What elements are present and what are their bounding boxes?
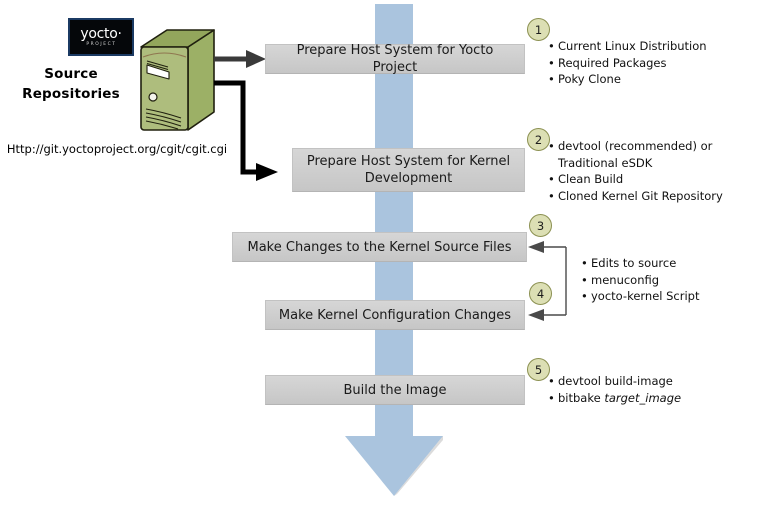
list-item: Poky Clone — [558, 71, 760, 88]
step-box-prepare-host-kernel[interactable]: Prepare Host System for Kernel Developme… — [292, 148, 525, 192]
list-item: menuconfig — [591, 272, 758, 289]
step-box-2-label: Prepare Host System for Kernel Developme… — [293, 153, 524, 187]
source-repositories-url: Http://git.yoctoproject.org/cgit/cgit.cg… — [4, 142, 230, 156]
source-label-line-1: Source — [8, 64, 134, 84]
step-notes-34-list: Edits to source menuconfig yocto-kernel … — [578, 255, 758, 305]
list-item: Required Packages — [558, 55, 760, 72]
step-notes-5-list: devtool build-image bitbake target_image — [545, 373, 755, 406]
step-box-make-kernel-source-changes[interactable]: Make Changes to the Kernel Source Files — [232, 232, 527, 262]
step-box-prepare-host-yocto[interactable]: Prepare Host System for Yocto Project — [265, 44, 525, 74]
step-box-build-the-image[interactable]: Build the Image — [265, 375, 525, 405]
step-box-4-label: Make Kernel Configuration Changes — [271, 307, 519, 324]
connector-notes-to-step3-step4 — [528, 241, 566, 321]
yocto-logo-wordmark: yocto· — [80, 27, 121, 41]
yocto-logo-subtext: PROJECT — [86, 43, 116, 47]
connector-server-to-step2 — [214, 83, 278, 181]
list-item: Current Linux Distribution — [558, 38, 760, 55]
step-notes-3-and-4: Edits to source menuconfig yocto-kernel … — [578, 255, 758, 305]
server-tower-icon — [141, 30, 214, 130]
list-item: bitbake target_image — [558, 390, 755, 407]
source-label-line-2: Repositories — [8, 84, 134, 104]
yocto-project-logo: yocto· PROJECT — [68, 18, 134, 56]
bitbake-command: bitbake — [558, 391, 604, 405]
step-notes-1-list: Current Linux Distribution Required Pack… — [545, 38, 760, 88]
source-repositories-label: Source Repositories — [8, 64, 134, 104]
step-box-make-kernel-config-changes[interactable]: Make Kernel Configuration Changes — [265, 300, 525, 330]
step-box-3-label: Make Changes to the Kernel Source Files — [240, 239, 520, 256]
connector-server-to-step1 — [214, 50, 266, 68]
list-item: devtool build-image — [558, 373, 755, 390]
diagram-canvas: yocto· PROJECT Source Repositories Http:… — [0, 0, 769, 517]
step-number-badge-4: 4 — [529, 282, 552, 305]
step-notes-1: Current Linux Distribution Required Pack… — [545, 38, 760, 88]
list-item: yocto-kernel Script — [591, 288, 758, 305]
list-item: Edits to source — [591, 255, 758, 272]
yocto-logo-text: yocto — [80, 26, 117, 42]
yocto-logo-dot: · — [117, 26, 121, 42]
step-notes-2-list: devtool (recommended) or Traditional eSD… — [545, 138, 757, 204]
step-notes-5: devtool build-image bitbake target_image — [545, 373, 755, 406]
step-notes-2: devtool (recommended) or Traditional eSD… — [545, 138, 757, 204]
list-item: Clean Build — [558, 171, 757, 188]
list-item: devtool (recommended) or Traditional eSD… — [558, 138, 757, 171]
list-item: Cloned Kernel Git Repository — [558, 188, 757, 205]
bitbake-target-arg: target_image — [604, 391, 681, 405]
step-box-1-label: Prepare Host System for Yocto Project — [266, 42, 524, 76]
step-number-badge-3: 3 — [529, 214, 552, 237]
step-box-5-label: Build the Image — [336, 382, 455, 399]
